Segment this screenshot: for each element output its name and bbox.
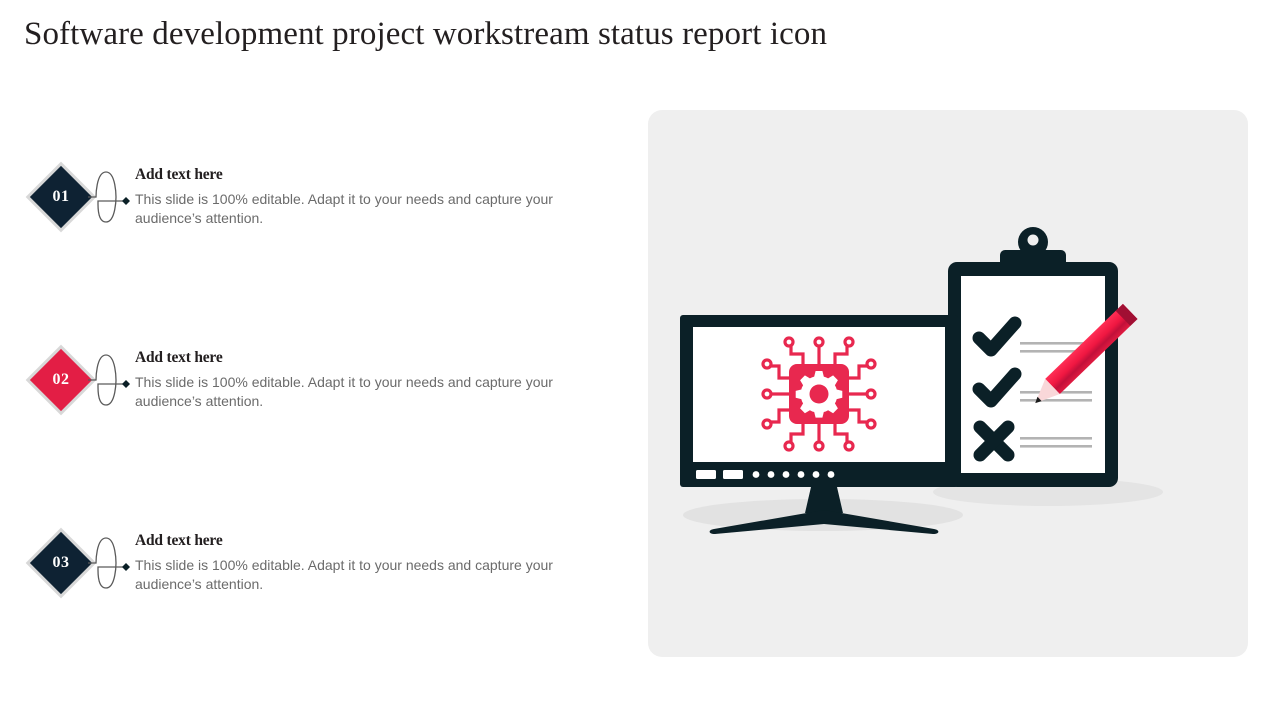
bezel-dot <box>753 471 760 478</box>
bezel-dot <box>768 471 775 478</box>
bezel-dot <box>798 471 805 478</box>
number-badge-03[interactable]: 03 <box>31 533 91 593</box>
list-item[interactable]: 03 Add text here This slide is 100% edit… <box>0 516 620 636</box>
badge-number: 02 <box>31 350 91 410</box>
bezel-dot <box>813 471 820 478</box>
slide-root: Software development project workstream … <box>0 0 1280 720</box>
s-curve-connector-icon <box>88 347 136 413</box>
item-text-block: Add text here This slide is 100% editabl… <box>135 349 605 411</box>
bezel-button <box>723 470 743 479</box>
numbered-items-list: 01 Add text here This slide is 100% edit… <box>0 0 620 720</box>
illustration-panel <box>648 110 1248 657</box>
bezel-button <box>696 470 716 479</box>
number-badge-02[interactable]: 02 <box>31 350 91 410</box>
item-body-text: This slide is 100% editable. Adapt it to… <box>135 190 585 228</box>
monitor-neck <box>805 487 843 513</box>
list-line <box>1020 399 1092 402</box>
software-status-report-illustration <box>648 110 1248 657</box>
list-item[interactable]: 01 Add text here This slide is 100% edit… <box>0 150 620 270</box>
badge-number: 01 <box>31 167 91 227</box>
s-curve-connector-icon <box>88 530 136 596</box>
item-text-block: Add text here This slide is 100% editabl… <box>135 166 605 228</box>
bezel-dot <box>828 471 835 478</box>
number-badge-01[interactable]: 01 <box>31 167 91 227</box>
list-line <box>1020 445 1092 448</box>
bezel-dot <box>783 471 790 478</box>
item-body-text: This slide is 100% editable. Adapt it to… <box>135 373 585 411</box>
item-body-text: This slide is 100% editable. Adapt it to… <box>135 556 585 594</box>
list-line <box>1020 437 1092 440</box>
item-heading: Add text here <box>135 349 605 367</box>
item-heading: Add text here <box>135 532 605 550</box>
list-item[interactable]: 02 Add text here This slide is 100% edit… <box>0 333 620 453</box>
badge-number: 03 <box>31 533 91 593</box>
s-curve-connector-icon <box>88 164 136 230</box>
item-heading: Add text here <box>135 166 605 184</box>
item-text-block: Add text here This slide is 100% editabl… <box>135 532 605 594</box>
